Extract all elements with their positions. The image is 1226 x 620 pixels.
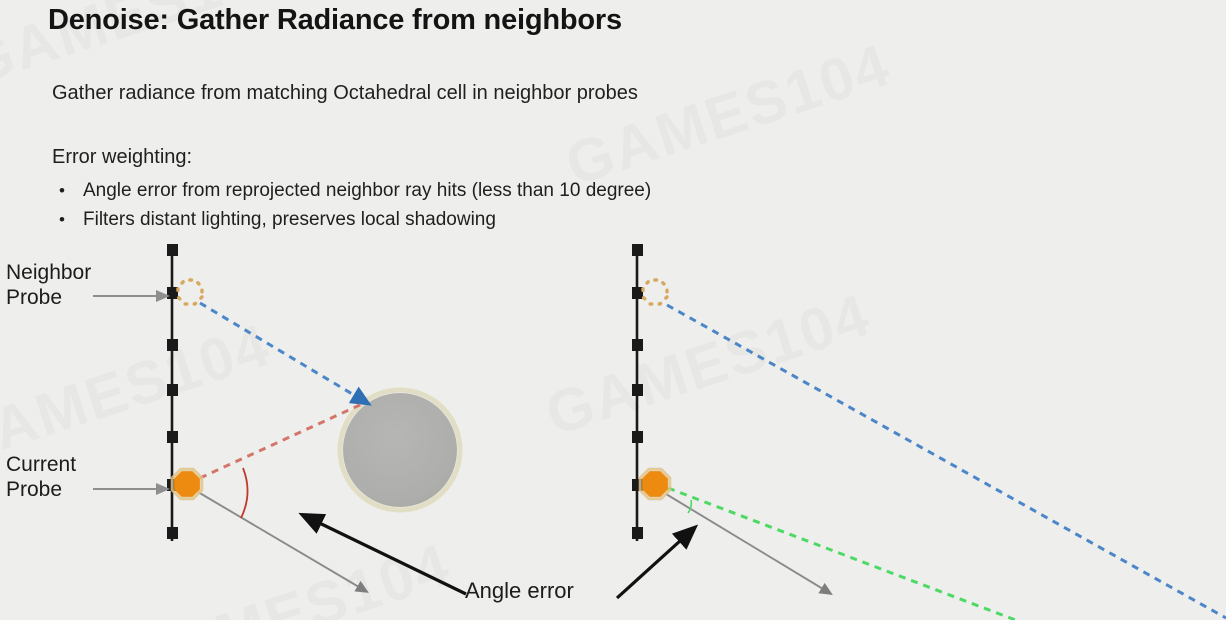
current-probe-marker[interactable] (174, 471, 200, 497)
neighbor-probe-marker[interactable] (178, 280, 202, 304)
ray-neighbor-ray (200, 303, 364, 401)
wall-tick (167, 527, 178, 539)
wall-tick (632, 384, 643, 396)
wall-tick (632, 244, 643, 256)
ray-neighbor-ray (667, 305, 1226, 618)
wall-tick (632, 431, 643, 443)
current-probe-marker[interactable] (642, 471, 668, 497)
diagram-svg (0, 0, 1226, 620)
wall-tick (167, 339, 178, 351)
left-panel-matching-hit (167, 244, 460, 590)
angle-error-arc (241, 468, 248, 518)
slide-canvas: GAMES104 GAMES104 GAMES104 GAMES104 GAME… (0, 0, 1226, 620)
ray-current-ray-hit (200, 404, 362, 478)
angle-error-arrow-left (307, 517, 466, 594)
wall-tick (167, 244, 178, 256)
occluder-sphere (343, 393, 457, 507)
right-panel-distant-hit (632, 244, 1226, 620)
wall-tick (167, 384, 178, 396)
ray-current-ray-hit (668, 488, 1226, 620)
neighbor-probe-marker[interactable] (643, 280, 667, 304)
angle-error-arrow-right (617, 531, 691, 598)
wall-tick (167, 431, 178, 443)
wall-tick (632, 339, 643, 351)
ray-current-ray-actual (198, 492, 364, 590)
wall-tick (632, 527, 643, 539)
angle-error-arc (688, 500, 691, 513)
